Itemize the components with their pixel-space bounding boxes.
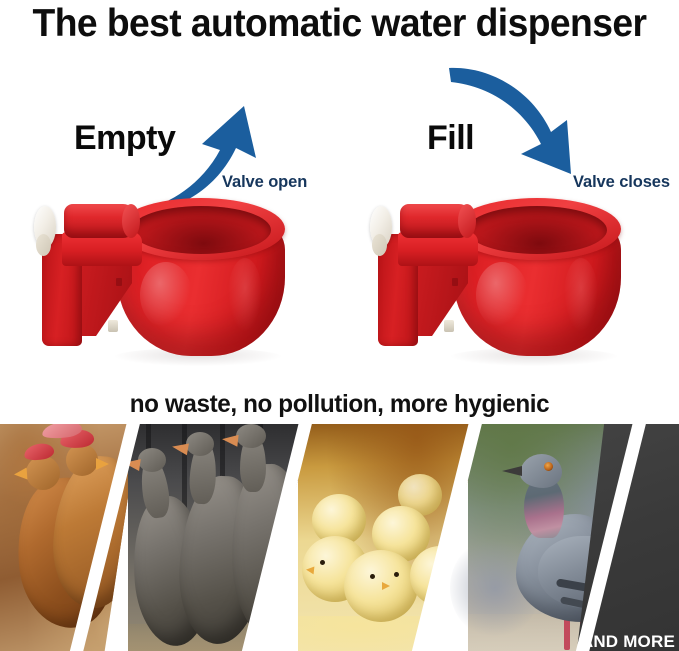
cup-mount-notch <box>452 278 458 286</box>
cup-valve-pin <box>444 320 454 332</box>
valve-caption-open: Valve open <box>222 173 307 192</box>
cup-valve-barrel-cap <box>458 204 476 238</box>
cup-mount-notch <box>116 278 122 286</box>
cup-valve-pin <box>108 320 118 332</box>
product-diagram: Empty Valve open Fill V <box>0 62 679 417</box>
cup-bowl-cavity <box>131 206 271 254</box>
diagram-panel-empty: Empty Valve open <box>0 62 340 417</box>
animal-photo-strip: AND MORE <box>0 424 679 651</box>
cup-valve-seal-inner <box>36 234 51 256</box>
cup-valve-seal-inner <box>372 234 387 256</box>
and-more-label: AND MORE <box>581 632 675 651</box>
cup-valve-barrel-cap <box>122 204 140 238</box>
diagram-panel-fill: Fill Valve closes <box>339 62 679 417</box>
water-cup-empty <box>22 192 292 392</box>
water-cup-full <box>358 192 628 392</box>
arrow-curved-down-icon <box>447 62 587 182</box>
cup-bowl-cavity <box>467 206 607 254</box>
page-title: The best automatic water dispenser <box>15 2 663 46</box>
valve-caption-closes: Valve closes <box>573 173 670 192</box>
tagline: no waste, no pollution, more hygienic <box>10 390 669 419</box>
